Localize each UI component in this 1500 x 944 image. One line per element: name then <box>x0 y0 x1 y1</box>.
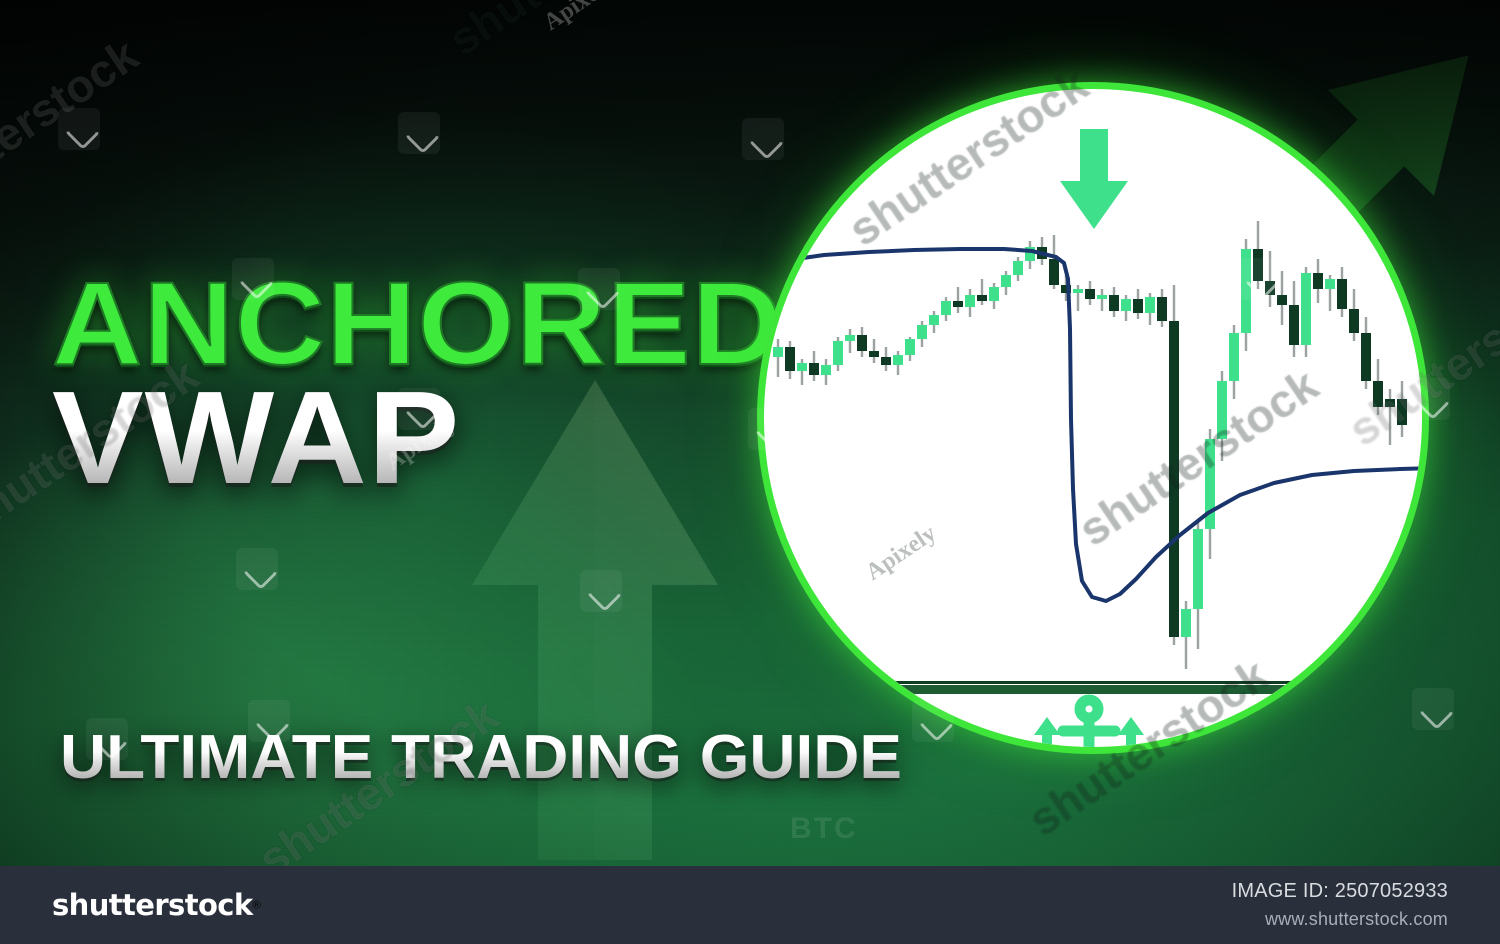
watermark-tile <box>236 548 278 590</box>
chart-circle <box>757 82 1429 754</box>
ticker-ghost-label: BTC <box>790 812 858 846</box>
candlestick-chart <box>764 89 1429 754</box>
watermark-brand: shutterstock <box>439 0 698 67</box>
up-arrow-icon <box>1034 717 1060 754</box>
headline-block: ANCHORED VWAP <box>52 268 792 502</box>
down-arrow-icon <box>1060 129 1128 229</box>
watermark-brand: shutterstock <box>0 27 148 226</box>
watermark-tile <box>398 112 440 154</box>
chart-circle-frame <box>757 82 1429 754</box>
poster-stage: ANCHORED VWAP ULTIMATE TRADING GUIDE BTC <box>0 0 1500 944</box>
watermark-tile <box>58 108 100 150</box>
page-title-line2: VWAP <box>52 375 822 502</box>
anchor-bar <box>764 685 1429 694</box>
anchor-bar-edge <box>764 681 1429 684</box>
footer-meta: IMAGE ID: 2507052933 www.shutterstock.co… <box>1232 880 1448 930</box>
footer-url[interactable]: www.shutterstock.com <box>1232 909 1448 930</box>
image-id-label: IMAGE ID: 2507052933 <box>1232 880 1448 903</box>
shutterstock-logo[interactable]: shutterstock® <box>52 888 261 918</box>
registered-mark: ® <box>253 900 261 912</box>
shutterstock-logo-text: shutterstock <box>52 888 253 922</box>
watermark-contributor: Apixely <box>539 0 619 37</box>
footer-bar: shutterstock® IMAGE ID: 2507052933 www.s… <box>0 866 1500 944</box>
poster-artwork: ANCHORED VWAP ULTIMATE TRADING GUIDE BTC <box>0 0 1500 866</box>
up-arrow-icon <box>1118 717 1144 754</box>
watermark-tile <box>580 570 622 612</box>
candle-series <box>773 221 1407 669</box>
vwap-line <box>782 249 1429 601</box>
anchor-icon <box>1059 700 1119 754</box>
